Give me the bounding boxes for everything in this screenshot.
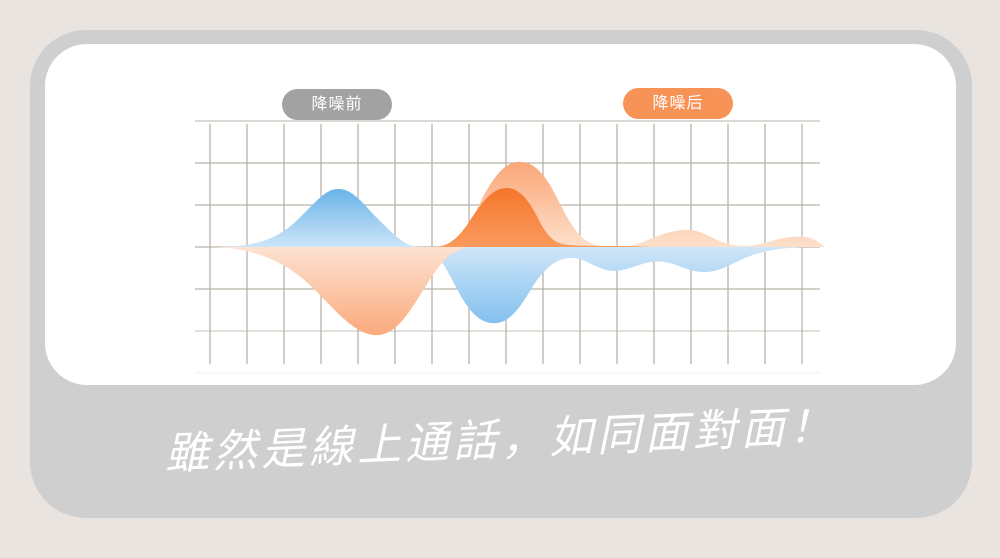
- legend-badge-after[interactable]: 降噪后: [623, 88, 733, 119]
- waveform-panel: 降噪前 降噪后: [45, 44, 956, 385]
- waveform-chart: [45, 44, 956, 385]
- screenshot-root: 降噪前 降噪后 雖然是線上通話，如同面對面！: [0, 0, 1000, 558]
- wave-before-lower: [420, 247, 805, 323]
- waveform-svg: [45, 44, 956, 385]
- wave-before-upper: [210, 189, 420, 247]
- wave-after-lower: [210, 247, 473, 335]
- legend-badge-before[interactable]: 降噪前: [282, 89, 392, 120]
